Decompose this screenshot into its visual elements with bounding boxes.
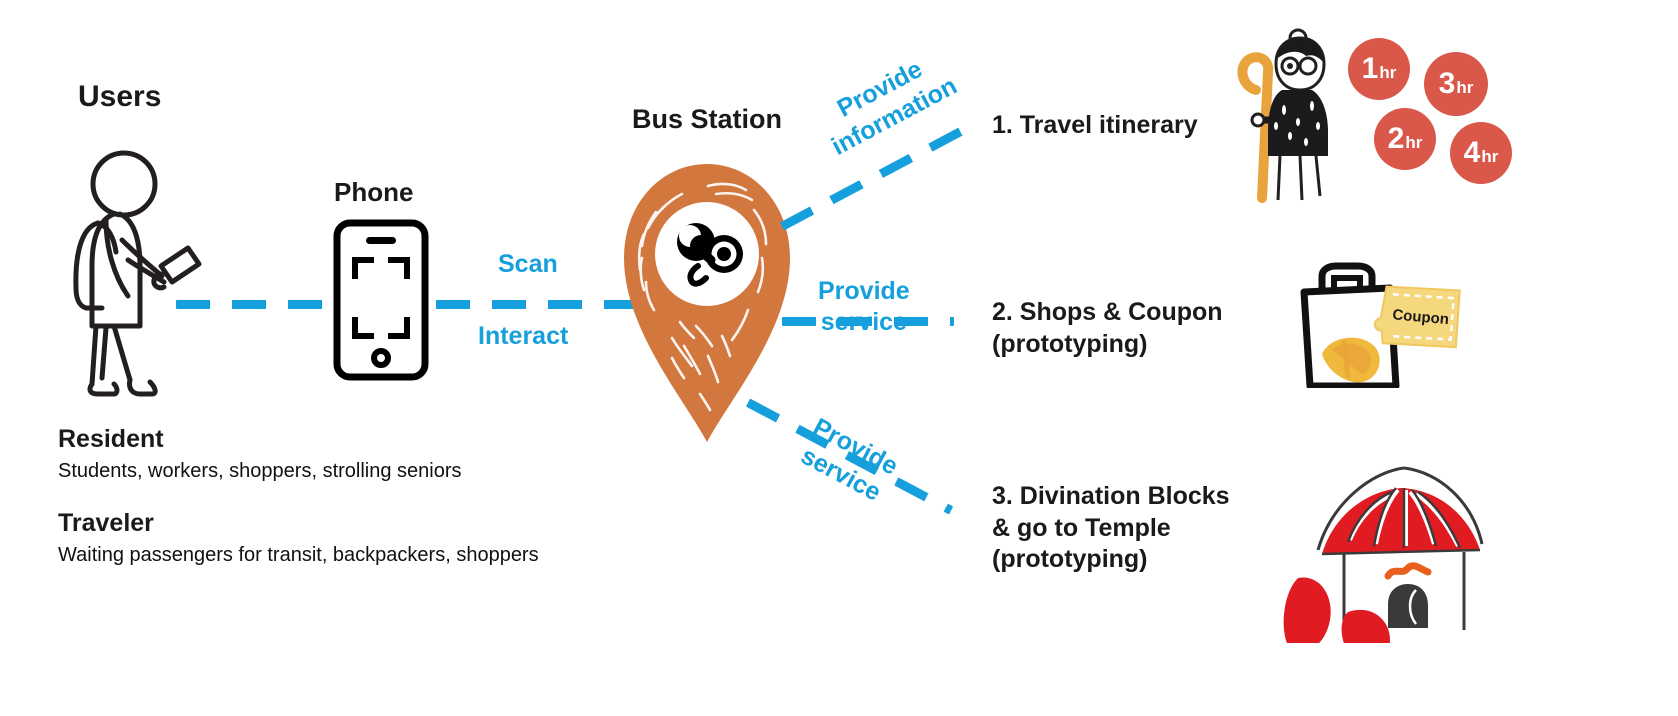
label-interact: Interact [478, 322, 568, 351]
elderly-person-with-cane-icon [1232, 28, 1352, 203]
connector-user-to-phone [176, 300, 336, 309]
user-figure [62, 148, 252, 403]
label-provide-service-shops-line1: Provide [818, 276, 910, 307]
badge-3hr-unit: hr [1456, 79, 1473, 96]
badge-1hr: 1 hr [1348, 38, 1410, 100]
shopping-bag-with-croissant-icon: Coupon [1274, 258, 1474, 388]
outcome-3-line3: (prototyping) [992, 544, 1230, 576]
badge-3hr: 3 hr [1424, 52, 1488, 116]
outcome-divination-temple: 3. Divination Blocks & go to Temple (pro… [992, 481, 1230, 576]
label-scan: Scan [498, 250, 558, 279]
temple-gate-icon [1276, 458, 1486, 643]
persona-traveler: Traveler Waiting passengers for transit,… [58, 509, 678, 567]
outcome-3-line1: 3. Divination Blocks [992, 481, 1230, 513]
phone-title: Phone [334, 177, 413, 208]
outcome-1-line1: 1. Travel itinerary [992, 110, 1198, 142]
label-provide-service-shops: Provide service [818, 276, 910, 337]
badge-4hr-unit: hr [1481, 148, 1498, 165]
users-title: Users [78, 80, 161, 114]
label-provide-service-shops-line2: service [818, 307, 910, 338]
persona-resident: Resident Students, workers, shoppers, st… [58, 425, 678, 483]
bus-station-title: Bus Station [632, 104, 782, 135]
persona-list: Resident Students, workers, shoppers, st… [58, 425, 678, 593]
badge-1hr-number: 1 [1362, 54, 1379, 84]
temple-divination-figure [1276, 458, 1486, 648]
phone-figure [330, 218, 440, 388]
outcome-2-line1: 2. Shops & Coupon [992, 297, 1223, 329]
badge-1hr-unit: hr [1379, 64, 1396, 81]
outcome-shops-coupon: 2. Shops & Coupon (prototyping) [992, 297, 1223, 360]
elderly-traveler-figure [1232, 28, 1352, 208]
orange-map-pin-icon [612, 150, 802, 450]
outcome-3-line2: & go to Temple [992, 513, 1230, 545]
persona-resident-name: Resident [58, 425, 678, 454]
persona-traveler-desc: Waiting passengers for transit, backpack… [58, 544, 678, 567]
outcome-travel-itinerary: 1. Travel itinerary [992, 110, 1198, 142]
outcome-2-line2: (prototyping) [992, 329, 1223, 361]
smartphone-scan-frame-icon [330, 218, 440, 383]
badge-4hr: 4 hr [1450, 122, 1512, 184]
shops-coupon-figure: Coupon [1274, 258, 1474, 393]
bus-station-pin [612, 150, 802, 455]
badge-2hr: 2 hr [1374, 108, 1436, 170]
persona-resident-desc: Students, workers, shoppers, strolling s… [58, 460, 678, 483]
badge-3hr-number: 3 [1439, 69, 1456, 99]
badge-2hr-number: 2 [1388, 124, 1405, 154]
badge-4hr-number: 4 [1464, 138, 1481, 168]
badge-2hr-unit: hr [1405, 134, 1422, 151]
divination-blocks-icon [1284, 578, 1390, 643]
label-provide-service-temple: Provide service [793, 412, 903, 509]
person-with-backpack-holding-phone-icon [62, 148, 252, 398]
persona-traveler-name: Traveler [58, 509, 678, 538]
